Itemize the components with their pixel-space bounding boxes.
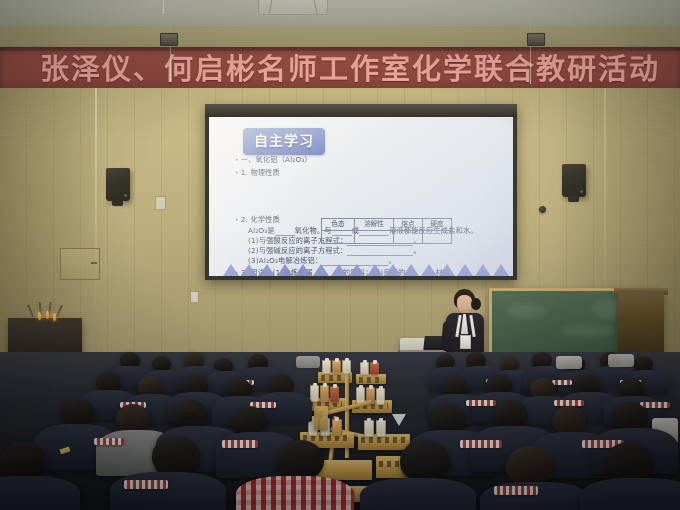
student-head bbox=[400, 440, 450, 482]
reagent-bottle bbox=[360, 362, 369, 375]
slide-bullet-0: •一、氧化铝（Al₂O₃） bbox=[235, 155, 503, 166]
fill-blank bbox=[347, 248, 413, 256]
banner-wire-right bbox=[530, 14, 531, 84]
wall-corner-seam-left bbox=[95, 88, 97, 368]
event-banner: 张泽仪、何启彬名师工作室化学联合教研活动 bbox=[0, 47, 680, 91]
flame-icon bbox=[38, 312, 41, 320]
student-glasses bbox=[182, 414, 196, 418]
student-head bbox=[0, 442, 46, 480]
slide-bullet-list: •一、氧化铝（Al₂O₃） •1. 物理性质 色态 溶解性 熔点 硬度 bbox=[235, 155, 503, 276]
slide-body-line-2: (2)与强碱反应的离子方程式：。 bbox=[235, 246, 503, 256]
student-scarf bbox=[460, 440, 502, 448]
reagent-bottle bbox=[332, 360, 341, 374]
wall-speaker-left-icon bbox=[106, 168, 130, 201]
bullet-dot: • bbox=[235, 170, 239, 177]
student-head bbox=[232, 406, 266, 435]
table-row bbox=[322, 231, 452, 244]
bullet-text: 2. 化学性质 bbox=[241, 215, 280, 224]
student-scarf bbox=[552, 380, 572, 385]
student-scarf bbox=[94, 438, 124, 445]
glass-funnel bbox=[392, 414, 406, 426]
test-tube-rack bbox=[356, 374, 386, 384]
table-cell bbox=[423, 231, 452, 244]
body-lead: (2)与强碱反应的离子方程式： bbox=[248, 246, 347, 255]
table-cell bbox=[394, 231, 423, 244]
student-torso bbox=[360, 478, 476, 510]
student-torso bbox=[110, 472, 226, 510]
banner-wire-left bbox=[163, 0, 164, 14]
student-scarf bbox=[124, 480, 168, 489]
screen-surface: 自主学习 •一、氧化铝（Al₂O₃） •1. 物理性质 色态 溶解性 熔点 硬度 bbox=[209, 117, 513, 276]
physical-properties-table: 色态 溶解性 熔点 硬度 bbox=[321, 218, 452, 244]
student-plaid-shirt bbox=[236, 476, 354, 510]
table-cell bbox=[355, 231, 394, 244]
slide-title: 自主学习 bbox=[243, 128, 325, 155]
ceiling-vent bbox=[258, 0, 328, 15]
student-head bbox=[116, 404, 150, 433]
reagent-bottle bbox=[332, 419, 342, 436]
student-scarf bbox=[494, 486, 538, 495]
student-head bbox=[506, 446, 554, 486]
slide-decoration-triangles bbox=[209, 263, 513, 276]
student-torso bbox=[0, 476, 80, 510]
student-scarf bbox=[640, 402, 670, 408]
chair-back bbox=[296, 356, 320, 368]
wall-access-hatch bbox=[60, 248, 100, 280]
test-tube-rack bbox=[314, 406, 328, 430]
student-head bbox=[552, 406, 586, 435]
bullet-text: 一、氧化铝（Al₂O₃） bbox=[241, 155, 312, 164]
reagent-bottle bbox=[330, 386, 339, 403]
classroom-photo: 张泽仪、何启彬名师工作室化学联合教研活动 自主学习 •一、氧化铝（Al₂O₃） bbox=[0, 0, 680, 510]
bullet-dot: • bbox=[235, 217, 239, 224]
speaker-indicator-dot bbox=[580, 190, 583, 193]
banner-clip-right bbox=[527, 33, 545, 46]
reagent-bottle bbox=[370, 362, 379, 375]
speaker-indicator-dot bbox=[124, 194, 127, 197]
wall-sensor-icon bbox=[539, 206, 546, 213]
student-head bbox=[276, 440, 324, 480]
bullet-text: 1. 物理性质 bbox=[241, 168, 280, 177]
reagent-bottle bbox=[322, 360, 331, 374]
table-header-cell: 硬度 bbox=[423, 219, 452, 231]
back-cabinet-right bbox=[618, 292, 664, 352]
teacher-hair-bun bbox=[471, 298, 481, 310]
teacher-id-badge bbox=[460, 335, 471, 349]
banner-text: 张泽仪、何启彬名师工作室化学联合教研活动 bbox=[0, 55, 660, 84]
banner-clip-left bbox=[160, 33, 178, 46]
table-cell bbox=[322, 231, 355, 244]
student-head bbox=[152, 436, 200, 476]
student-scarf bbox=[466, 400, 496, 406]
flame-icon bbox=[53, 313, 56, 321]
fill-blank bbox=[275, 228, 295, 236]
banner-top-shadow bbox=[0, 47, 680, 51]
reagent-bottle bbox=[342, 360, 351, 374]
table-header-row: 色态 溶解性 熔点 硬度 bbox=[322, 219, 452, 231]
reagent-bottle bbox=[376, 388, 385, 405]
burner-flame-cluster bbox=[30, 300, 64, 320]
reagent-bottle bbox=[376, 420, 386, 437]
projection-screen: 自主学习 •一、氧化铝（Al₂O₃） •1. 物理性质 色态 溶解性 熔点 硬度 bbox=[205, 104, 517, 280]
wall-switch-plate[interactable] bbox=[155, 196, 166, 210]
chair-back bbox=[608, 354, 634, 367]
reagent-bottle bbox=[364, 420, 374, 437]
table-header-cell: 溶解性 bbox=[355, 219, 394, 231]
bullet-dot: • bbox=[235, 157, 239, 164]
screen-roller-casing bbox=[205, 104, 517, 117]
student-head bbox=[60, 398, 94, 427]
flame-icon bbox=[46, 311, 49, 319]
slide-bullet-1: •1. 物理性质 bbox=[235, 168, 503, 179]
wall-speaker-right-icon bbox=[562, 164, 586, 197]
table-header-cell: 色态 bbox=[322, 219, 355, 231]
student-scarf bbox=[222, 440, 258, 448]
wall-outlet[interactable] bbox=[190, 291, 199, 303]
presentation-slide: 自主学习 •一、氧化铝（Al₂O₃） •1. 物理性质 色态 溶解性 熔点 硬度 bbox=[209, 117, 513, 276]
student-torso bbox=[580, 478, 680, 510]
chair-back bbox=[556, 356, 582, 369]
table-header-cell: 熔点 bbox=[394, 219, 423, 231]
reagent-bottle bbox=[320, 385, 329, 402]
banner-wire-left-2 bbox=[170, 20, 171, 82]
reagent-bottle bbox=[310, 385, 319, 402]
body-tail: 。 bbox=[413, 246, 420, 255]
body-lead: Al₂O₃是 bbox=[248, 226, 275, 235]
